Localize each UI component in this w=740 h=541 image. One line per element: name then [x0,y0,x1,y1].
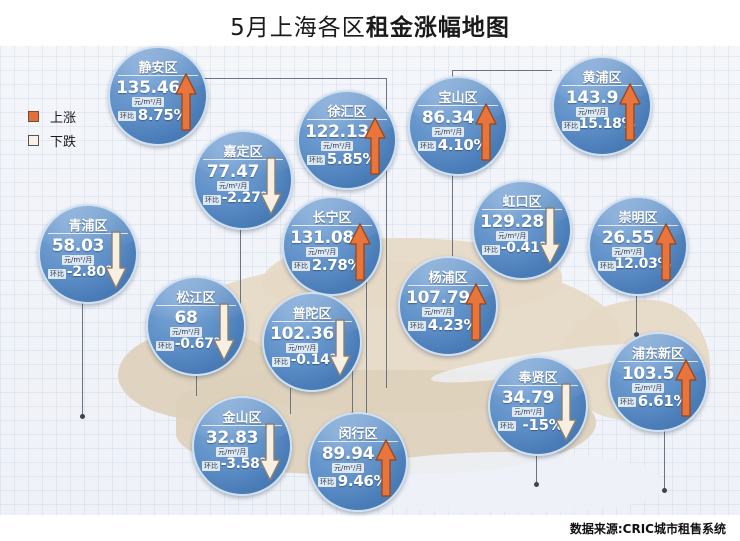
district-bubble-baoshan[interactable]: 宝山区86.34元/m²/月环比4.10% [408,76,508,176]
district-rent-value: 34.79 [496,388,560,408]
leader-line [536,452,537,484]
district-bubble-putuo[interactable]: 普陀区102.36元/m²/月环比-0.14% [262,292,362,392]
district-rent-value: 103.5 [616,364,680,384]
district-bubble-huangpu[interactable]: 黄浦区143.9元/m²/月环比15.18% [552,56,652,156]
district-rent-value: 68 [154,308,218,328]
district-rent-value: 102.36 [270,324,334,344]
trend-arrow-up-icon [175,73,197,131]
district-bubble-fengxian[interactable]: 奉贤区34.79元/m²/月环比-15% [488,356,588,456]
leader-endpoint-dot [662,488,667,493]
leader-line [82,300,83,416]
trend-arrow-down-icon [105,231,127,289]
trend-arrow-up-icon [675,359,697,417]
trend-arrow-up-icon [655,223,677,281]
district-bubble-hongkou[interactable]: 虹口区129.28元/m²/月环比-0.41% [472,180,572,280]
district-bubble-songjiang[interactable]: 松江区68元/m²/月环比-0.67% [146,276,246,376]
trend-arrow-up-icon [364,117,386,175]
district-rent-value: 77.47 [201,162,265,182]
legend-item-rise: 上涨 [28,104,76,128]
legend-label-rise: 上涨 [50,107,76,126]
source-footer: 数据来源:CRIC城市租售系统 [570,520,726,537]
district-bubble-changning[interactable]: 长宁区131.08元/m²/月环比2.78% [282,196,382,296]
trend-arrow-down-icon [213,303,235,361]
legend-swatch-fall-icon [28,135,39,146]
trend-arrow-down-icon [539,207,561,265]
leader-line [664,428,665,490]
trend-arrow-up-icon [465,283,487,341]
district-rent-value: 107.79 [406,288,470,308]
district-rent-value: 129.28 [480,212,544,232]
district-rent-value: 122.13 [305,122,369,142]
district-bubble-yangpu[interactable]: 杨浦区107.79元/m²/月环比4.23% [398,256,498,356]
trend-arrow-down-icon [260,157,282,215]
leader-endpoint-dot [534,482,539,487]
district-bubble-jiading[interactable]: 嘉定区77.47元/m²/月环比-2.27% [193,130,293,230]
district-rent-value: 86.34 [416,108,480,128]
legend-item-fall: 下跌 [28,128,76,152]
leader-line [366,268,367,416]
infographic-canvas: 5月上海各区租金涨幅地图 上涨 下跌 静安区135.46元/m²/月环比8.75… [0,0,740,541]
title-prefix: 5月上海各区 [230,15,366,41]
trend-arrow-up-icon [375,439,397,497]
district-bubble-minhang[interactable]: 闵行区89.94元/m²/月环比9.46% [308,412,408,512]
district-rent-value: 58.03 [46,236,110,256]
district-rent-value: 89.94 [316,444,380,464]
trend-arrow-down-icon [329,319,351,377]
leader-line [452,70,552,71]
district-rent-value: 131.08 [290,228,354,248]
district-bubble-chongming[interactable]: 崇明区26.55元/m²/月环比12.03% [588,196,688,296]
trend-arrow-up-icon [349,223,371,281]
district-rent-value: 26.55 [596,228,660,248]
district-bubble-qingpu[interactable]: 青浦区58.03元/m²/月环比-2.80% [38,204,138,304]
district-rent-value: 143.9 [560,88,624,108]
legend-label-fall: 下跌 [50,131,76,150]
trend-arrow-up-icon [619,83,641,141]
leader-line [204,78,386,79]
leader-line [290,388,291,414]
title-emphasis: 租金涨幅地图 [366,15,510,41]
district-rent-value: 135.46 [116,78,180,98]
district-rent-value: 32.83 [200,428,264,448]
trend-arrow-down-icon [259,423,281,481]
legend: 上涨 下跌 [28,104,76,152]
legend-swatch-rise-icon [28,111,39,122]
trend-arrow-up-icon [475,103,497,161]
page-title: 5月上海各区租金涨幅地图 [0,8,740,42]
district-bubble-pudong[interactable]: 浦东新区103.5元/m²/月环比6.61% [608,332,708,432]
district-bubble-jinshan[interactable]: 金山区32.83元/m²/月环比-3.58% [192,396,292,496]
leader-endpoint-dot [80,414,85,419]
district-bubble-xuhui[interactable]: 徐汇区122.13元/m²/月环比5.85% [297,90,397,190]
trend-arrow-down-icon [555,383,577,441]
district-bubble-jingan[interactable]: 静安区135.46元/m²/月环比8.75% [108,46,208,146]
